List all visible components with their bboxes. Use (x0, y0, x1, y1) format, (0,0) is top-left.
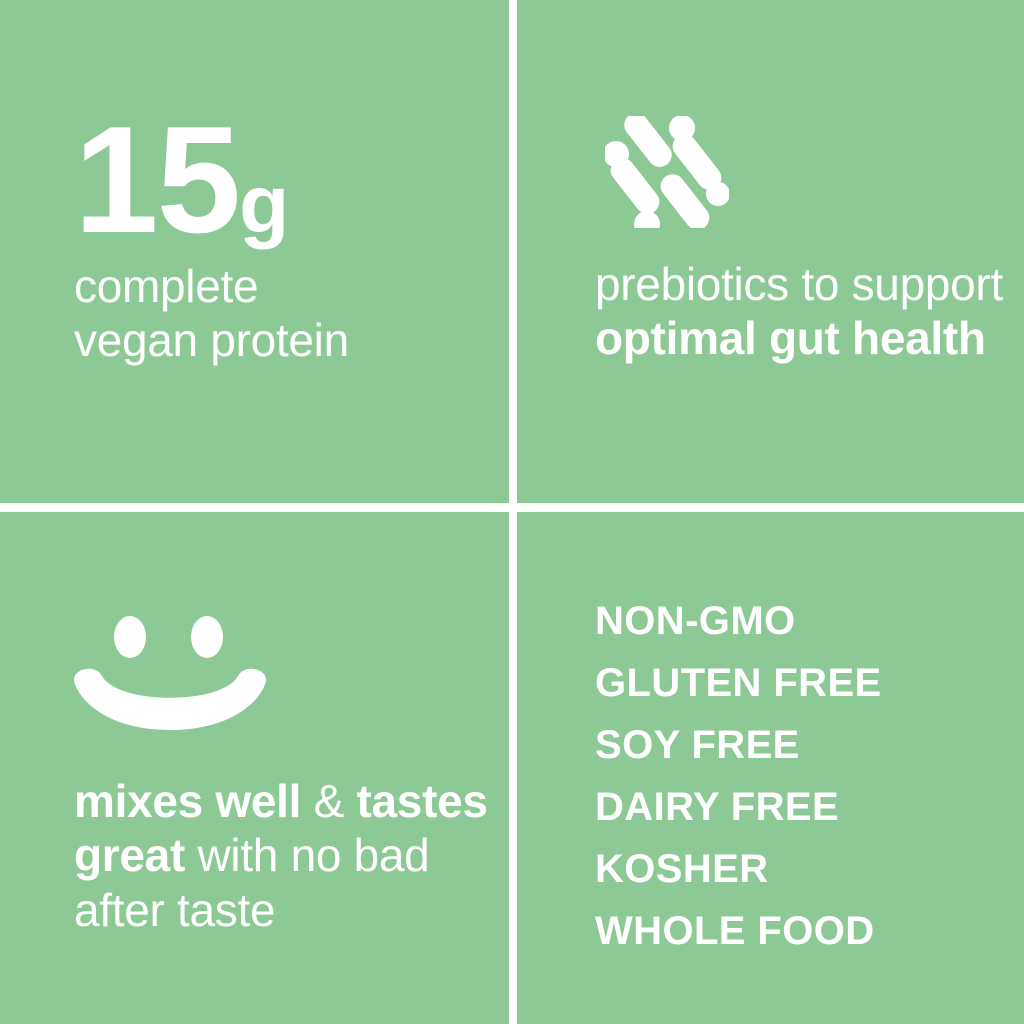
smiley-eye-right (191, 616, 223, 658)
list-item: GLUTEN FREE (595, 652, 882, 714)
prebiotics-description: prebiotics to support optimal gut health (595, 257, 1010, 366)
list-item: SOY FREE (595, 714, 882, 776)
protein-stat-number: 15 (74, 95, 239, 265)
list-item: NON-GMO (595, 590, 882, 652)
protein-caption: complete vegan protein (74, 259, 349, 368)
prebiotics-text-bold: optimal gut health (595, 312, 986, 364)
panel-claims: NON-GMO GLUTEN FREE SOY FREE DAIRY FREE … (517, 512, 1024, 1024)
taste-description: mixes well & tastes great with no bad af… (74, 774, 504, 937)
protein-caption-line-1: complete (74, 259, 349, 313)
panel-prebiotics: prebiotics to support optimal gut health (517, 0, 1024, 503)
protein-caption-line-2: vegan protein (74, 313, 349, 367)
claims-list: NON-GMO GLUTEN FREE SOY FREE DAIRY FREE … (595, 590, 882, 962)
panel-taste: mixes well & tastes great with no bad af… (0, 512, 509, 1024)
taste-text-bold-1: mixes well (74, 775, 301, 827)
probiotic-bacteria-icon (605, 116, 729, 233)
protein-stat-unit: g (239, 159, 288, 250)
list-item: KOSHER (595, 838, 882, 900)
smiley-face-icon (62, 600, 286, 735)
smiley-mouth (74, 669, 266, 730)
product-benefits-infographic: 15g complete vegan protein (0, 0, 1024, 1024)
prebiotics-text-regular: prebiotics to support (595, 258, 1003, 310)
panel-protein: 15g complete vegan protein (0, 0, 509, 503)
smiley-eye-left (114, 616, 146, 658)
protein-stat: 15g (74, 104, 288, 256)
taste-text-regular-1: & (301, 775, 356, 827)
list-item: DAIRY FREE (595, 776, 882, 838)
list-item: WHOLE FOOD (595, 900, 882, 962)
